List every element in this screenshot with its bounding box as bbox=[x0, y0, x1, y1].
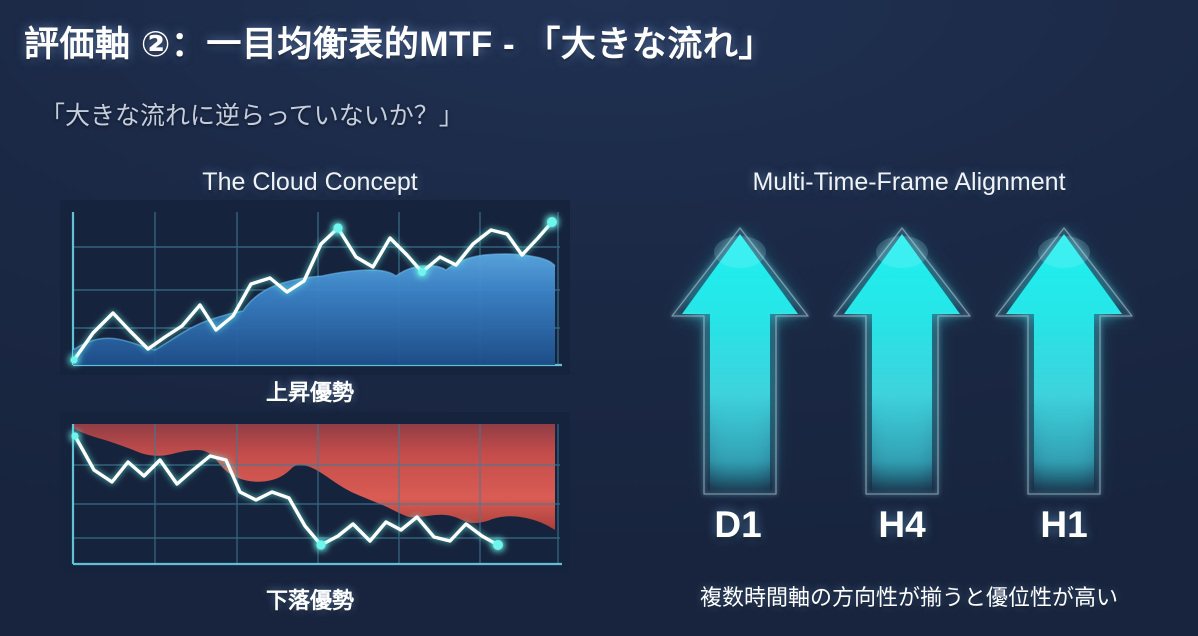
page-title: 評価軸 ②：一目均衡表的MTF - 「大きな流れ」 bbox=[24, 16, 774, 67]
cloud-concept-title: The Cloud Concept bbox=[0, 168, 620, 197]
arrow-h1 bbox=[996, 228, 1132, 494]
timeframe-label-d1: D1 bbox=[678, 504, 798, 546]
bearish-cloud-chart bbox=[60, 412, 570, 572]
mtf-alignment-title: Multi-Time-Frame Alignment bbox=[620, 168, 1198, 197]
mtf-caption: 複数時間軸の方向性が揃うと優位性が高い bbox=[620, 580, 1198, 612]
mtf-arrow-group bbox=[630, 222, 1190, 507]
bullish-cloud-chart bbox=[60, 200, 570, 375]
slide-canvas: 評価軸 ②：一目均衡表的MTF - 「大きな流れ」 「大きな流れに逆らっていない… bbox=[0, 0, 1198, 636]
timeframe-label-h1: H1 bbox=[1004, 504, 1124, 546]
arrow-h4 bbox=[834, 228, 970, 494]
timeframe-label-h4: H4 bbox=[842, 504, 962, 546]
bullish-caption: 上昇優勢 bbox=[0, 375, 620, 407]
arrow-d1 bbox=[672, 228, 808, 494]
page-subtitle: 「大きな流れに逆らっていないか？」 bbox=[40, 96, 464, 132]
bearish-caption: 下落優勢 bbox=[0, 583, 620, 615]
